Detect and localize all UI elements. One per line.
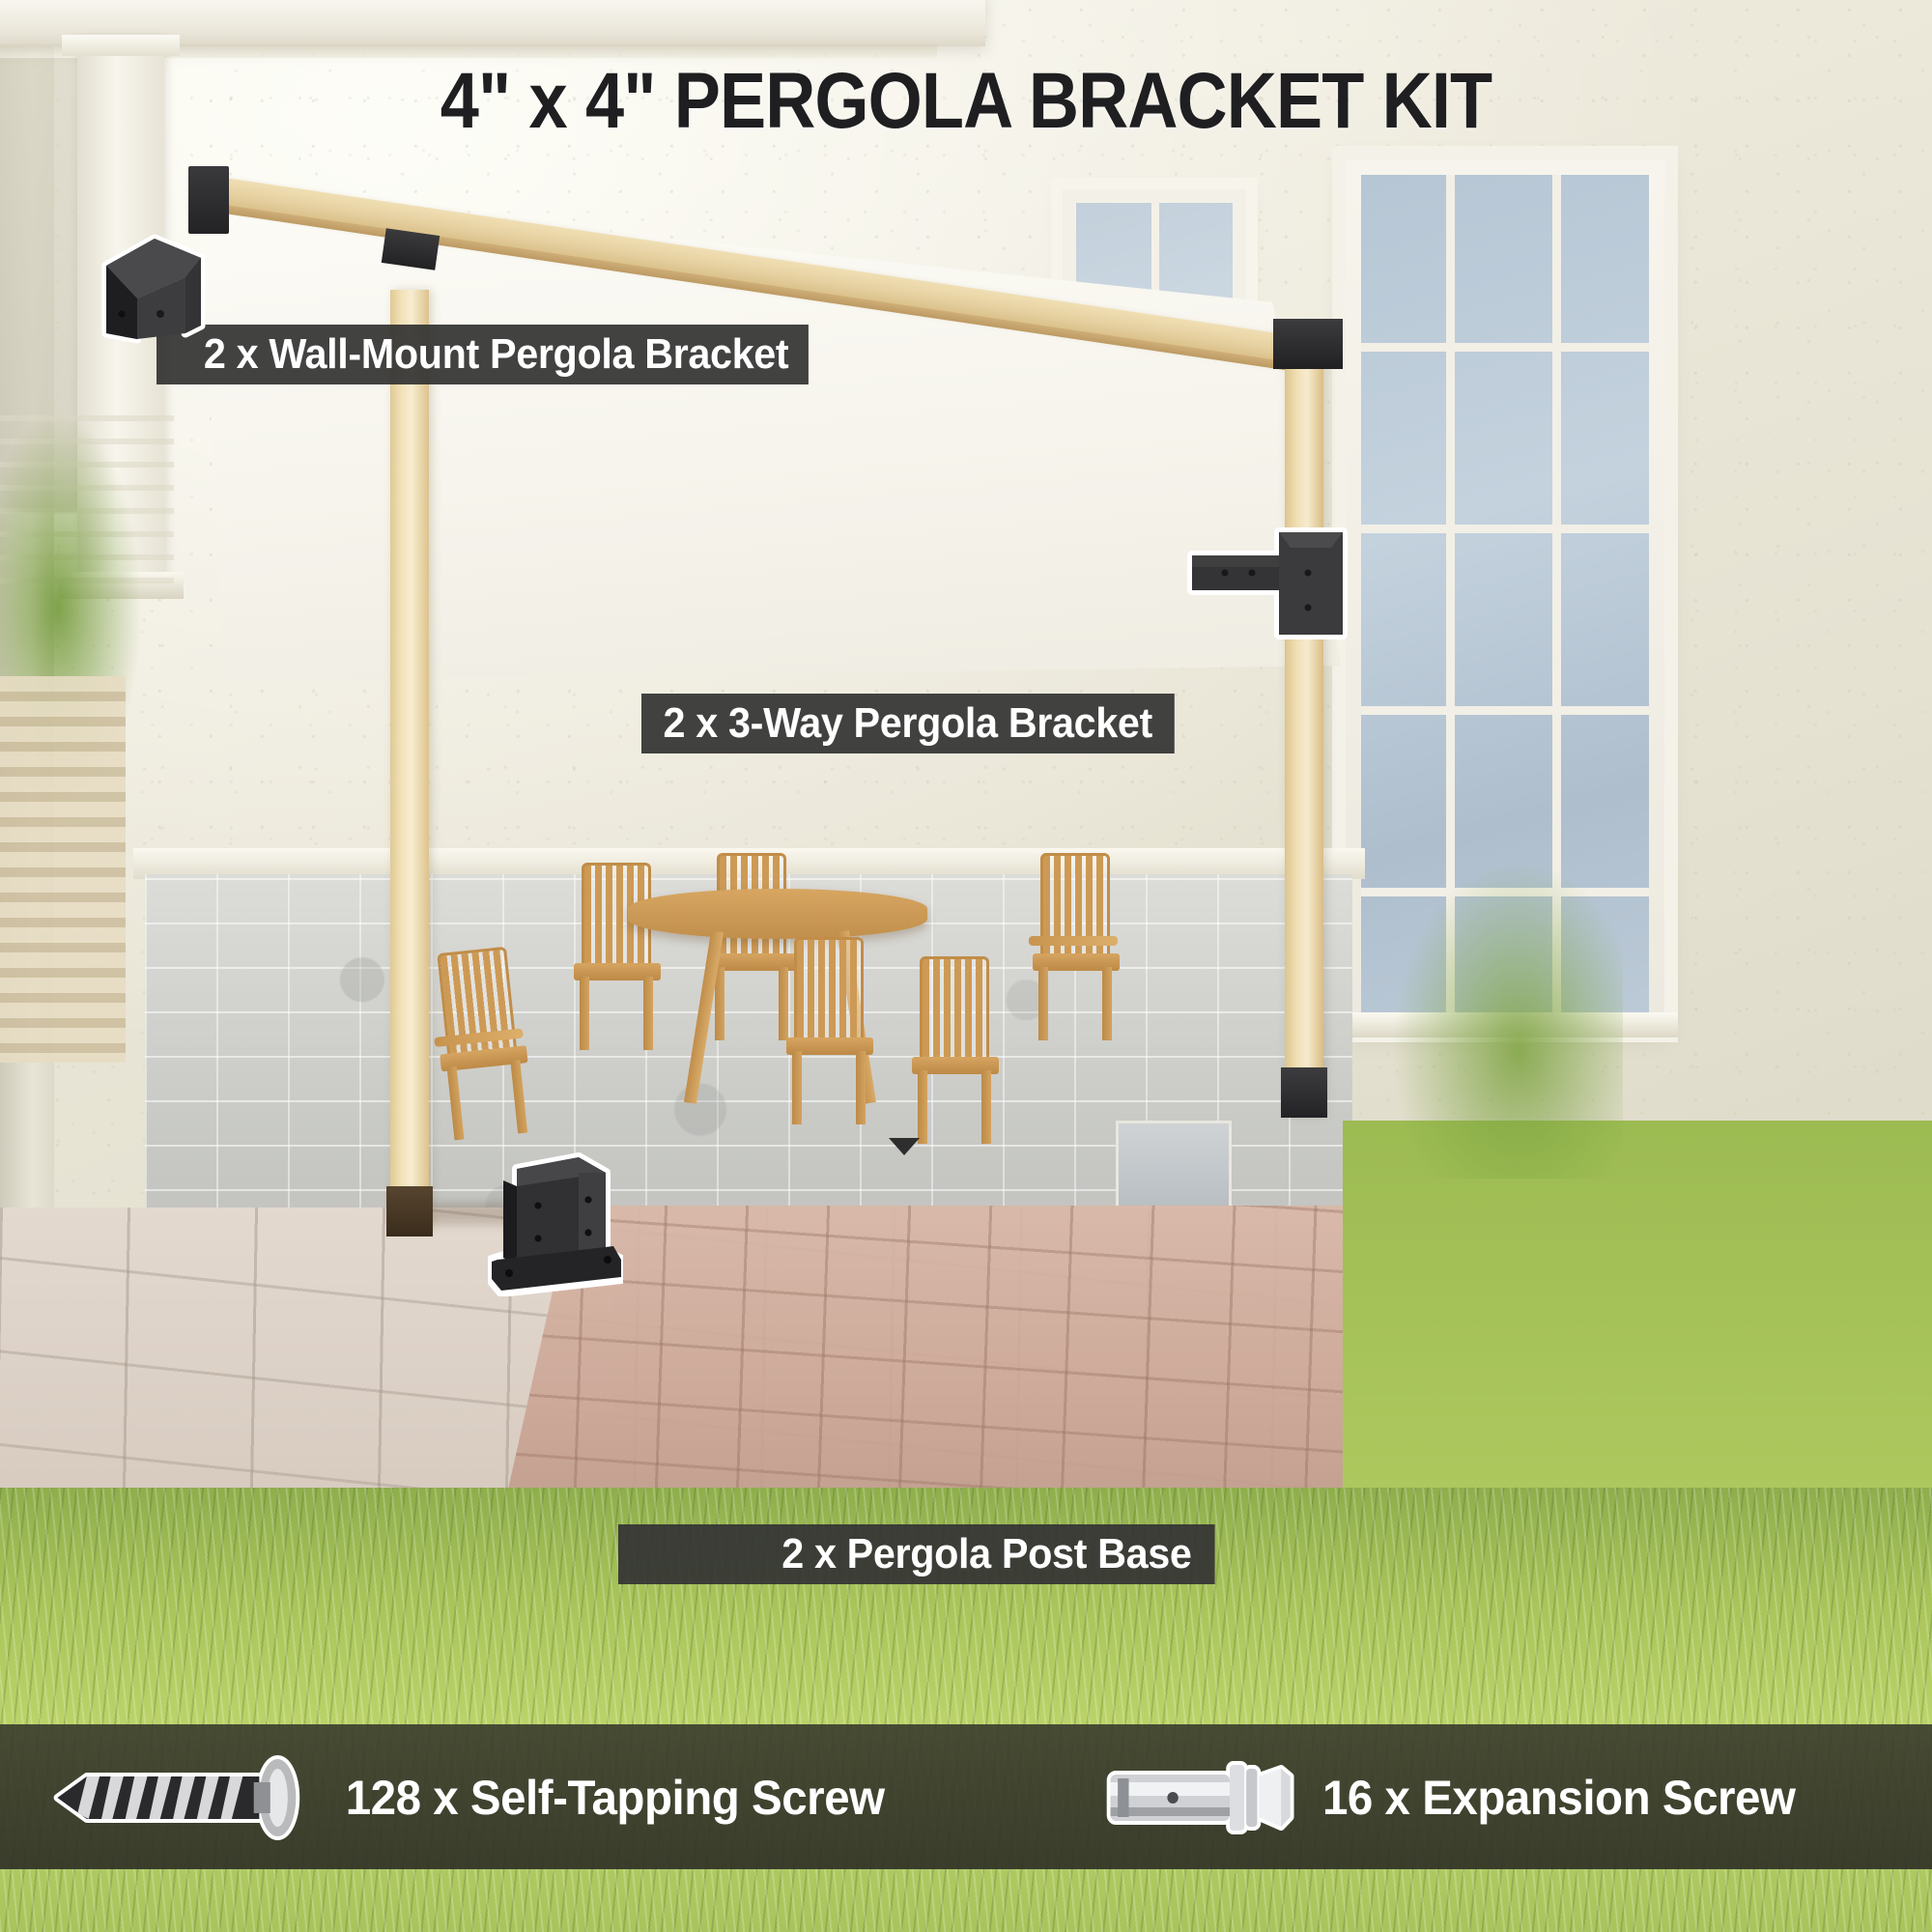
chair-leg bbox=[643, 977, 653, 1050]
patio-brick-area bbox=[502, 1206, 1372, 1515]
chair-leg bbox=[1102, 967, 1112, 1040]
installed-post-base-right bbox=[1281, 1067, 1327, 1118]
infographic-canvas: 4" x 4" PERGOLA BRACKET KIT 2 x Wall-Mou… bbox=[0, 0, 1932, 1932]
patio-chair bbox=[782, 937, 875, 1121]
hardware-item-expansion-screw: 16 x Expansion Screw bbox=[1101, 1753, 1795, 1842]
chair-armrest bbox=[1029, 936, 1118, 946]
patio-chair bbox=[908, 956, 1001, 1140]
pointer-arrow-icon bbox=[889, 1138, 920, 1155]
pergola-post-left bbox=[390, 290, 429, 1227]
chair-leg bbox=[580, 977, 589, 1050]
callout-3way-label: 2 x 3-Way Pergola Bracket bbox=[664, 699, 1152, 748]
callout-wall-mount-label: 2 x Wall-Mount Pergola Bracket bbox=[204, 330, 788, 379]
callout-post-base-label: 2 x Pergola Post Base bbox=[781, 1530, 1191, 1578]
installed-3way-bracket bbox=[1273, 319, 1343, 369]
chair-leg bbox=[510, 1060, 527, 1134]
callout-post-base: 2 x Pergola Post Base bbox=[618, 1524, 1215, 1584]
self-tapping-screw-label: 128 x Self-Tapping Screw bbox=[346, 1770, 885, 1826]
callout-wall-mount-bracket: 2 x Wall-Mount Pergola Bracket bbox=[156, 325, 809, 384]
scene-photo-background bbox=[0, 0, 1932, 1932]
patio-table-top bbox=[628, 889, 927, 939]
patio-chair bbox=[1029, 853, 1122, 1037]
patio-chair bbox=[570, 863, 663, 1046]
shrub-right bbox=[1391, 860, 1623, 1179]
chair-backrest bbox=[794, 937, 864, 1041]
chair-leg bbox=[918, 1070, 927, 1144]
window-large-mullion-h3 bbox=[1361, 706, 1649, 715]
callout-3way-bracket: 2 x 3-Way Pergola Bracket bbox=[641, 694, 1174, 753]
expansion-screw-icon bbox=[1101, 1753, 1298, 1842]
wood-fence-left bbox=[0, 676, 126, 1063]
chair-leg bbox=[981, 1070, 991, 1144]
house-pillar-cap bbox=[62, 35, 180, 56]
installed-beam-bracket bbox=[382, 228, 440, 270]
wall-mount-bracket-icon bbox=[89, 225, 216, 349]
self-tapping-screw-icon bbox=[46, 1753, 322, 1842]
hardware-item-self-tapping-screw: 128 x Self-Tapping Screw bbox=[46, 1753, 885, 1842]
page-title: 4" x 4" PERGOLA BRACKET KIT bbox=[116, 56, 1816, 147]
chair-leg bbox=[1038, 967, 1048, 1040]
window-large-mullion-h2 bbox=[1361, 525, 1649, 533]
chair-leg bbox=[447, 1066, 465, 1141]
installed-post-base-left bbox=[386, 1186, 433, 1236]
chair-leg bbox=[856, 1051, 866, 1124]
three-way-bracket-icon bbox=[1186, 526, 1349, 644]
window-large-mullion-h1 bbox=[1361, 343, 1649, 352]
installed-wall-mount-bracket bbox=[188, 166, 229, 234]
hardware-strip: 128 x Self-Tapping Screw bbox=[0, 1724, 1932, 1869]
chair-leg bbox=[792, 1051, 802, 1124]
patio-chair bbox=[425, 946, 536, 1138]
pergola-post-right bbox=[1285, 343, 1323, 1116]
chair-backrest bbox=[920, 956, 989, 1061]
expansion-screw-label: 16 x Expansion Screw bbox=[1322, 1770, 1795, 1826]
post-base-icon bbox=[488, 1151, 623, 1296]
patio-brick-joints bbox=[502, 1206, 1372, 1515]
